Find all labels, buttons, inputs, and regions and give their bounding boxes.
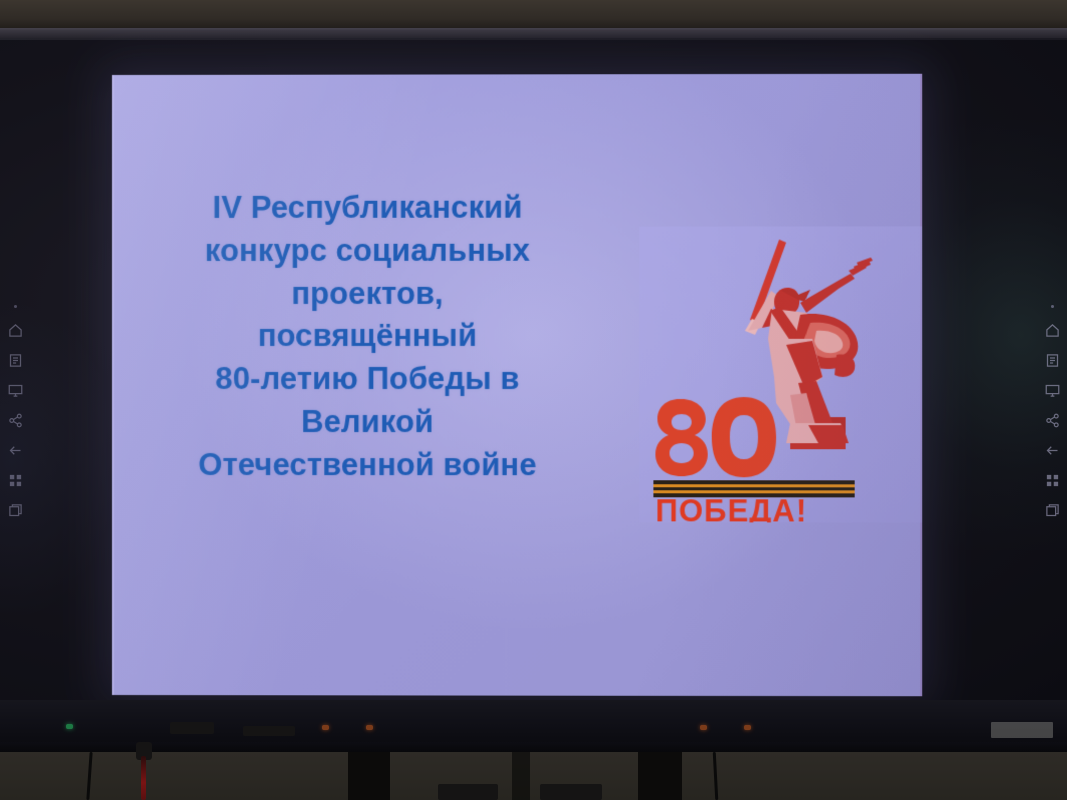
standby-led-3 — [700, 725, 707, 730]
equipment-box-right — [540, 784, 602, 800]
title-line-6: Великой — [142, 401, 593, 444]
shadow-gap-center — [512, 752, 530, 800]
stand-leg-right — [638, 752, 682, 800]
home-icon[interactable] — [1045, 323, 1060, 338]
title-line-5: 80-летию Победы в — [142, 358, 593, 401]
victory-80-logo[interactable]: ПОБЕДА! — [639, 226, 922, 522]
bezel-top-edge — [0, 28, 1067, 38]
stylus-pen — [141, 756, 146, 800]
stand-leg-left — [348, 752, 390, 800]
window-icon[interactable] — [8, 503, 23, 518]
back-arrow-icon[interactable] — [1045, 443, 1060, 458]
screen-icon[interactable] — [8, 383, 23, 398]
screen-icon[interactable] — [1045, 383, 1060, 398]
title-line-4: посвящённый — [142, 315, 593, 358]
pen-icon[interactable] — [14, 305, 17, 308]
note-icon[interactable] — [1045, 353, 1060, 368]
equipment-box-left — [438, 784, 498, 800]
standby-led-4 — [744, 725, 751, 730]
anniversary-number — [655, 397, 776, 477]
slide-title: IV Республиканский конкурс социальных пр… — [142, 187, 593, 487]
apps-grid-icon[interactable] — [8, 473, 23, 488]
ir-receiver-module — [170, 722, 214, 734]
standby-led-2 — [366, 725, 373, 730]
share-icon[interactable] — [1045, 413, 1060, 428]
power-led — [66, 724, 73, 729]
display-bottom-bezel — [0, 700, 1067, 748]
on-screen-display-toolbar-right[interactable] — [1039, 305, 1065, 518]
photo-of-presentation-display: IV Республиканский конкурс социальных пр… — [0, 0, 1067, 800]
slide-left-edge — [112, 75, 114, 695]
table-surface — [0, 752, 1067, 800]
title-line-7: Отечественной войне — [142, 444, 593, 487]
on-screen-display-toolbar-left[interactable] — [2, 305, 28, 518]
title-line-1: IV Республиканский — [142, 187, 593, 230]
model-label-plate — [991, 722, 1053, 738]
back-arrow-icon[interactable] — [8, 443, 23, 458]
home-icon[interactable] — [8, 323, 23, 338]
victory-80-logo-artwork: ПОБЕДА! — [639, 226, 922, 522]
presentation-slide[interactable]: IV Республиканский конкурс социальных пр… — [112, 74, 922, 696]
apps-grid-icon[interactable] — [1045, 473, 1060, 488]
port-panel — [243, 726, 295, 736]
note-icon[interactable] — [8, 353, 23, 368]
share-icon[interactable] — [8, 413, 23, 428]
title-line-2: конкурс социальных — [142, 229, 593, 272]
pen-icon[interactable] — [1051, 305, 1054, 308]
window-icon[interactable] — [1045, 503, 1060, 518]
standby-led-1 — [322, 725, 329, 730]
victory-caption: ПОБЕДА! — [655, 493, 807, 522]
title-line-3: проектов, — [142, 272, 593, 315]
